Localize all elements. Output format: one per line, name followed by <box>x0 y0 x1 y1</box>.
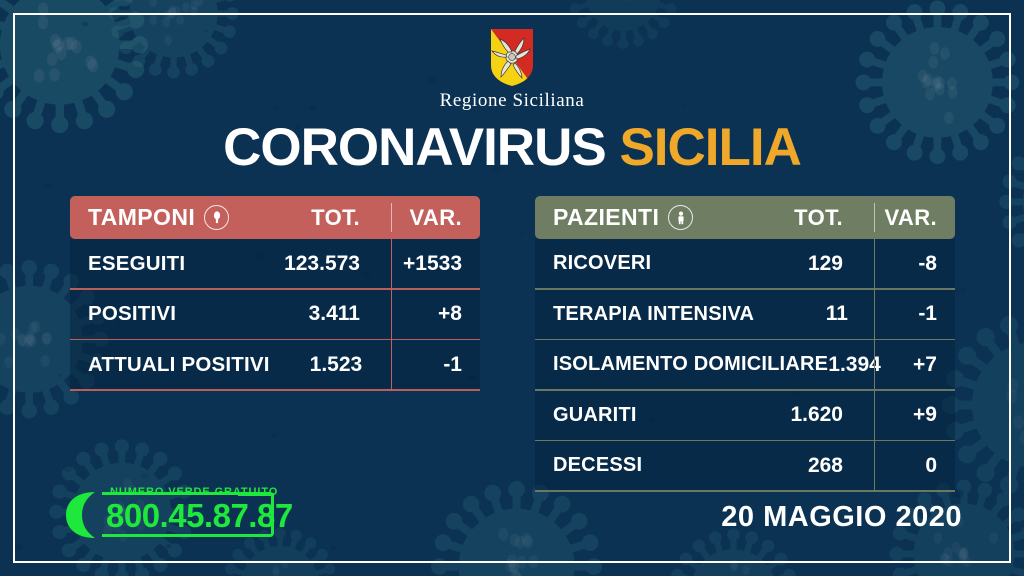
background-speck <box>141 473 150 479</box>
table-row: ATTUALI POSITIVI 1.523 -1 <box>70 340 480 389</box>
table-title-pazienti: PAZIENTI <box>553 204 659 231</box>
table-row: POSITIVI 3.411 +8 <box>70 290 480 339</box>
hotline-rule <box>238 493 274 496</box>
region-label: Regione Siciliana <box>0 90 1024 112</box>
row-total: 3.411 <box>265 302 374 326</box>
row-label: ISOLAMENTO DOMICILIARE <box>535 353 828 376</box>
row-variation: 0 <box>857 454 955 478</box>
background-speck <box>427 76 437 83</box>
row-total: 123.573 <box>265 252 374 276</box>
header-divider <box>874 203 876 232</box>
background-speck <box>519 231 525 235</box>
background-speck <box>330 546 337 551</box>
table-title-cell: PAZIENTI <box>535 204 743 231</box>
row-label: TERAPIA INTENSIVA <box>535 303 754 326</box>
row-label: RICOVERI <box>535 252 743 275</box>
row-label: POSITIVI <box>70 302 265 326</box>
hotline-number[interactable]: 800.45.87.87 <box>106 497 293 535</box>
row-label: ESEGUITI <box>70 252 265 276</box>
table-tamponi: TAMPONI TOT. VAR. ESEGUITI 123.573 +1533 <box>70 196 480 391</box>
row-variation: -8 <box>857 252 955 276</box>
row-total: 11 <box>754 302 862 326</box>
report-date: 20 MAGGIO 2020 <box>721 501 962 534</box>
row-total: 129 <box>743 252 857 276</box>
person-icon <box>668 205 693 230</box>
table-row: DECESSI 268 0 <box>535 441 955 490</box>
table-header-pazienti: PAZIENTI TOT. VAR. <box>535 196 955 239</box>
row-label: DECESSI <box>535 454 743 477</box>
table-row: ISOLAMENTO DOMICILIARE 1.394 +7 <box>535 340 955 389</box>
column-divider <box>391 239 393 391</box>
table-header-tamponi: TAMPONI TOT. VAR. <box>70 196 480 239</box>
table-row: ESEGUITI 123.573 +1533 <box>70 239 480 288</box>
row-label: GUARITI <box>535 404 743 427</box>
background-speck <box>271 433 277 437</box>
virus-particle <box>560 0 686 56</box>
column-header-var: VAR. <box>857 205 955 231</box>
table-title-tamponi: TAMPONI <box>88 204 195 231</box>
row-variation: +9 <box>857 403 955 427</box>
swab-icon <box>204 205 229 230</box>
background-speck <box>954 286 966 294</box>
row-total: 268 <box>743 454 857 478</box>
column-divider <box>874 239 876 492</box>
header-divider <box>391 203 393 232</box>
table-row: RICOVERI 129 -8 <box>535 239 955 288</box>
title-highlight: SICILIA <box>619 118 800 177</box>
table-row: GUARITI 1.620 +9 <box>535 391 955 440</box>
table-body-pazienti: RICOVERI 129 -8 TERAPIA INTENSIVA 11 -1 … <box>535 239 955 492</box>
page-title: CORONAVIRUS SICILIA <box>0 117 1024 178</box>
background-speck <box>103 86 106 88</box>
column-header-total: TOT. <box>265 205 374 231</box>
table-pazienti: PAZIENTI TOT. VAR. RICOVERI 129 -8 <box>535 196 955 492</box>
table-title-cell: TAMPONI <box>70 204 265 231</box>
trinacria-crest-icon <box>489 27 535 87</box>
row-variation: +7 <box>895 353 955 377</box>
row-variation: -1 <box>862 302 955 326</box>
virus-particle <box>100 0 247 87</box>
hotline-block: NUMERO VERDE GRATUITO 800.45.87.87 <box>62 484 297 546</box>
phone-handset-icon <box>62 490 102 540</box>
background-speck <box>63 466 73 473</box>
row-total: 1.620 <box>743 403 857 427</box>
row-label: ATTUALI POSITIVI <box>70 353 270 377</box>
background-speck <box>44 184 53 190</box>
row-total: 1.394 <box>828 353 895 377</box>
table-bottom-line <box>70 389 480 391</box>
infographic-canvas: Regione Siciliana CORONAVIRUS SICILIA TA… <box>0 0 1024 576</box>
table-bottom-line <box>535 490 955 492</box>
table-row: TERAPIA INTENSIVA 11 -1 <box>535 290 955 339</box>
table-body-tamponi: ESEGUITI 123.573 +1533 POSITIVI 3.411 +8… <box>70 239 480 391</box>
row-total: 1.523 <box>270 353 377 377</box>
background-speck <box>11 543 23 551</box>
column-header-total: TOT. <box>743 205 857 231</box>
title-main: CORONAVIRUS <box>223 118 606 177</box>
